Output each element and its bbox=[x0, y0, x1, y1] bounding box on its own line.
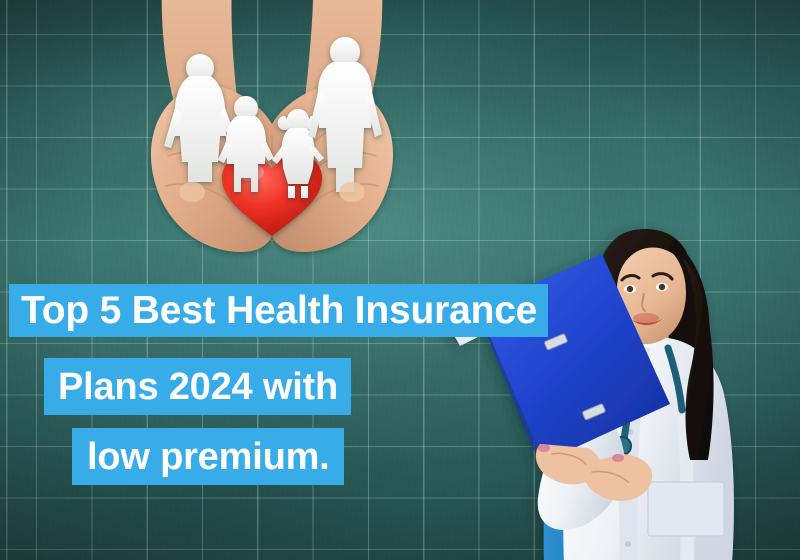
headline: Top 5 Best Health Insurance Plans 2024 w… bbox=[0, 0, 800, 560]
headline-line-1: Top 5 Best Health Insurance bbox=[9, 284, 548, 337]
headline-line-3: low premium. bbox=[72, 428, 344, 485]
headline-line-2: Plans 2024 with bbox=[44, 358, 351, 415]
health-insurance-banner: Top 5 Best Health Insurance Plans 2024 w… bbox=[0, 0, 800, 560]
